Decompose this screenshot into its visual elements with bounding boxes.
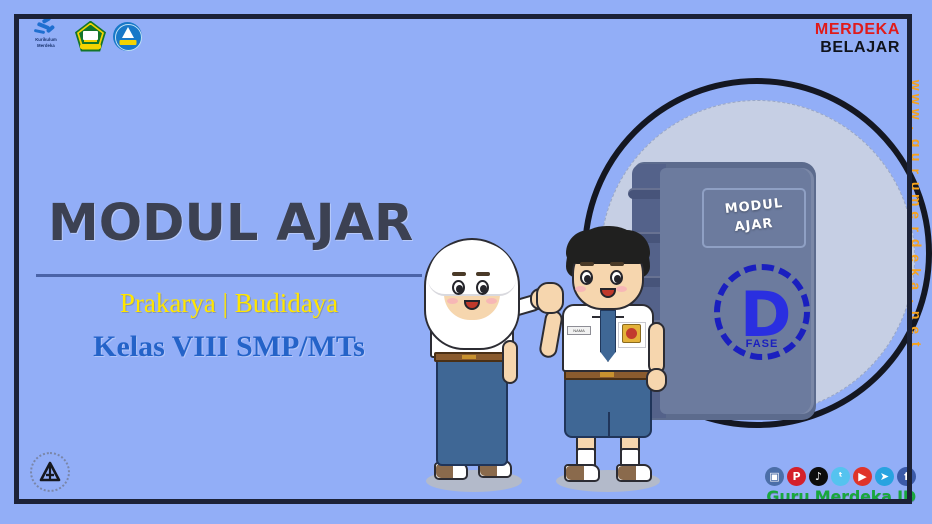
boy-arm-waving (538, 309, 564, 359)
girl-belt (434, 352, 510, 362)
brand-label: Guru Merdeka ID (766, 487, 916, 506)
url-char: a (909, 283, 923, 291)
boy-arm-down (648, 322, 665, 374)
girl-blush-left (447, 298, 458, 304)
girl-eye-right (476, 280, 489, 295)
boy-hair-front (566, 230, 650, 264)
url-char: u (909, 153, 923, 162)
url-char: e (909, 211, 923, 219)
url-char: g (909, 138, 923, 147)
kurikulum-merdeka-logo: Kurikulum Merdeka (24, 18, 68, 54)
url-char: r (909, 169, 923, 174)
kemenag-pentagon (75, 21, 106, 52)
url-char: k (909, 268, 923, 276)
girl-brow-right (476, 272, 490, 276)
instagram-icon[interactable]: ▣ (765, 467, 784, 486)
grade-label: Kelas VIII SMP/MTs (36, 328, 422, 366)
girl-skirt (436, 358, 508, 466)
url-char: d (909, 239, 923, 248)
website-url-watermark: www.gurumerdeka.net (902, 78, 930, 458)
kurikulum-merdeka-label-line2: Merdeka (37, 43, 55, 48)
boy-brow-right (610, 262, 624, 266)
telegram-icon[interactable]: ➤ (875, 467, 894, 486)
boy-name-tag: NAMA (567, 326, 591, 335)
boy-eye-left (580, 270, 593, 285)
url-char: e (909, 326, 923, 334)
kemdikbud-flame-icon (122, 27, 134, 38)
social-icon-row[interactable]: ▣P♪ᵗ▶➤f (765, 467, 916, 486)
boy-eye-right (610, 270, 623, 285)
page-title: MODUL AJAR (48, 196, 448, 252)
boy-tie (600, 310, 616, 362)
slide-canvas: MODUL AJAR D FASE (0, 0, 932, 524)
ministry-logo-row: Kurikulum Merdeka (24, 18, 142, 54)
girl-eye-left (452, 280, 465, 295)
url-char: w (909, 109, 923, 120)
url-char: u (909, 182, 923, 191)
kurikulum-merdeka-label-line1: Kurikulum (35, 37, 57, 42)
boy-shorts (564, 376, 652, 438)
fase-letter: D (740, 284, 791, 346)
student-boy-illustration: NAMA (536, 226, 676, 498)
url-char: . (909, 299, 923, 303)
url-char: t (909, 342, 923, 347)
merdeka-belajar-logo: MERDEKA BELAJAR (815, 22, 900, 56)
kemdikbud-logo (113, 22, 142, 51)
book-cover-label: MODUL AJAR (702, 188, 806, 248)
url-char: r (909, 226, 923, 231)
tiktok-icon[interactable]: ♪ (809, 467, 828, 486)
kemdikbud-ribbon (119, 40, 136, 45)
boy-blush-right (616, 286, 627, 292)
pinterest-icon[interactable]: P (787, 467, 806, 486)
fase-label: FASE (720, 338, 804, 350)
boy-brow-left (580, 262, 594, 266)
subject-label: Prakarya | Budidaya (36, 286, 422, 320)
boy-blush-left (575, 286, 586, 292)
boy-school-badge (622, 324, 641, 343)
youtube-icon[interactable]: ▶ (853, 467, 872, 486)
monogram-a-icon (37, 459, 63, 485)
fase-badge: D FASE (714, 264, 810, 360)
kemenag-ribbon (80, 44, 101, 49)
boy-shoe-right (616, 464, 652, 482)
url-char: . (909, 126, 923, 130)
kurikulum-merdeka-mark (33, 18, 59, 36)
kemenag-book-icon (83, 31, 98, 40)
boy-hand-down (646, 368, 667, 392)
url-char: e (909, 254, 923, 262)
girl-arm-down (502, 340, 518, 384)
title-divider (36, 274, 422, 277)
girl-blush-right (486, 298, 497, 304)
url-char: w (909, 94, 923, 105)
url-char: n (909, 311, 923, 320)
merdeka-belajar-line2: BELAJAR (815, 40, 900, 56)
book-front-cover: MODUL AJAR D FASE (660, 168, 814, 414)
merdeka-belajar-line1: MERDEKA (815, 22, 900, 38)
boy-shoe-left (564, 464, 600, 482)
boy-hand-waving (536, 282, 564, 314)
facebook-icon[interactable]: f (897, 467, 916, 486)
kemenag-logo (75, 21, 106, 52)
url-char: m (909, 194, 923, 206)
twitter-icon[interactable]: ᵗ (831, 467, 850, 486)
girl-brow-left (452, 272, 466, 276)
url-char: w (909, 80, 923, 91)
author-monogram-logo (30, 452, 70, 492)
